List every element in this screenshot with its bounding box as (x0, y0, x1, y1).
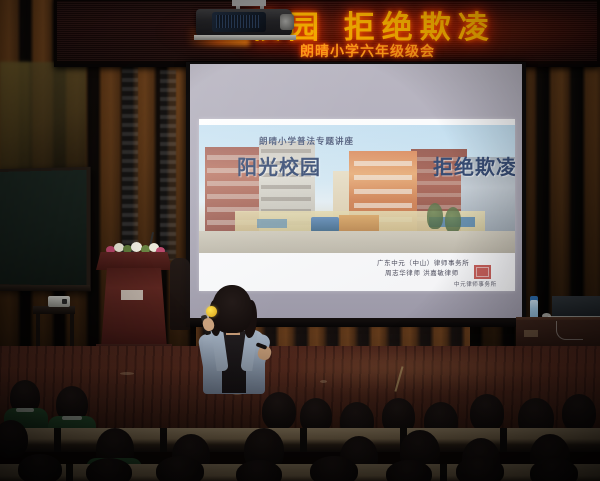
laptop-screen (552, 296, 600, 318)
projector-vent (216, 15, 260, 28)
stage-device-indicator (62, 299, 67, 304)
student-head (0, 420, 28, 458)
projector-bracket (232, 0, 266, 6)
uniform-collar (16, 408, 34, 412)
presentation-slide: 朗晴小学普法专题讲座 阳光校园 拒绝欺凌 广东中元（中山）律师事务所 周志华律师… (199, 119, 515, 291)
student-head (470, 394, 504, 432)
slide-footer-small: 中元律师事务所 (454, 280, 497, 288)
seat-divider (300, 428, 307, 452)
student-head (386, 460, 432, 481)
student-head (530, 458, 578, 481)
side-stool (33, 306, 75, 314)
stairwell-strip (122, 60, 138, 270)
uniform-collar (62, 416, 82, 420)
slide-footer-lawyers: 周志华律师 洪嘉敏律师 (385, 267, 459, 277)
campus-ground (199, 231, 515, 253)
student-head (456, 456, 504, 481)
student-head (562, 394, 596, 432)
student-head (310, 456, 358, 481)
hanging-cable (556, 321, 583, 340)
seat-divider (160, 428, 167, 452)
campus-vehicle (311, 217, 339, 232)
slide-footer-firm: 广东中元（中山）律师事务所 (377, 257, 469, 267)
seat-divider (500, 428, 507, 452)
stairwell-strip (160, 70, 176, 260)
audience-area (0, 372, 600, 481)
seat-divider (54, 428, 61, 452)
podium-body (101, 268, 167, 348)
photo-scene: 校园 拒绝欺凌 朗晴小学六年级级会 (0, 0, 600, 481)
speaker-hair (212, 285, 252, 333)
podium-plate (121, 290, 143, 300)
student-head (236, 460, 282, 481)
student-head (156, 456, 204, 481)
slide-headline-left: 阳光校园 (237, 151, 321, 180)
blackboard-chalk-ledge (0, 285, 90, 291)
campus-sign (257, 219, 287, 228)
podium-top (96, 252, 172, 270)
campus-tree (445, 207, 461, 233)
campus-tree (427, 203, 443, 229)
student-head (86, 458, 132, 481)
side-table-label (524, 330, 538, 337)
slide-red-seal (474, 265, 491, 279)
slide-headline: 阳光校园 拒绝欺凌 (237, 151, 515, 180)
projector-base-plate (194, 35, 296, 40)
student-head (18, 454, 62, 481)
projector-lens (280, 14, 294, 30)
seat-divider (440, 464, 447, 481)
slide-headline-right: 拒绝欺凌 (433, 151, 515, 180)
handheld-microphone-head (206, 306, 217, 317)
seat-divider (66, 464, 73, 481)
blackboard-surface (0, 170, 86, 286)
background-figure (170, 258, 190, 330)
student-head (262, 392, 296, 430)
slide-eyebrow-text: 朗晴小学普法专题讲座 (259, 135, 459, 147)
led-banner-subtitle: 朗晴小学六年级级会 (300, 41, 560, 59)
